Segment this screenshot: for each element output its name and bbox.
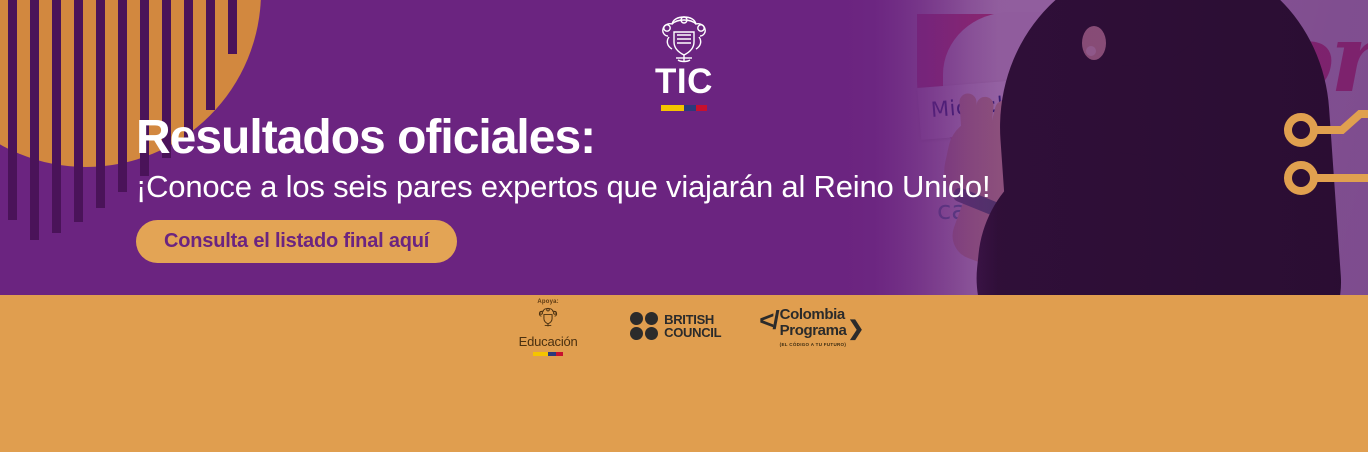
tic-logo[interactable]: TIC: [651, 13, 717, 111]
educacion-wordmark: Educación: [504, 334, 592, 349]
british-council-wordmark: BRITISH COUNCIL: [664, 313, 721, 339]
apoya-label: Apoya:: [504, 299, 592, 305]
partner-logo-educacion[interactable]: Apoya: Educación: [504, 299, 592, 356]
hero-copy: Resultados oficiales: ¡Conoce a los seis…: [136, 110, 1036, 263]
partner-logo-british-council[interactable]: BRITISH COUNCIL: [630, 312, 721, 340]
colombia-programa-line2: Programa: [780, 324, 847, 338]
tic-wordmark: TIC: [651, 65, 717, 99]
colombia-programa-tagline: (EL CÓDIGO A TU FUTURO): [780, 341, 864, 348]
british-council-dots-icon: [630, 312, 658, 340]
circuit-trace-decoration: [1270, 96, 1368, 216]
circuit-node-icon: [1288, 117, 1314, 143]
colombia-programa-wordmark: Colombia Programa ❯ (EL CÓDIGO A TU FUTU…: [780, 308, 864, 348]
code-slash-icon: </: [759, 308, 777, 332]
consulta-listado-button[interactable]: Consulta el listado final aquí: [136, 220, 457, 263]
page-subtitle: ¡Conoce a los seis pares expertos que vi…: [136, 168, 1036, 206]
chevron-right-icon: ❯: [848, 322, 864, 336]
promo-banner: ✳ Micro:bit ca nor: [0, 0, 1368, 452]
page-title: Resultados oficiales:: [136, 110, 1036, 166]
circuit-node-icon: [1288, 165, 1314, 191]
colombia-coat-of-arms-icon: [537, 306, 559, 328]
hero-section: ✳ Micro:bit ca nor: [0, 0, 1368, 295]
colombia-coat-of-arms-icon: [657, 13, 711, 63]
partner-logo-colombia-programa[interactable]: </ Colombia Programa ❯ (EL CÓDIGO A TU F…: [759, 308, 864, 348]
footer-section: Apoya: Educación: [0, 295, 1368, 452]
colombia-flag-bar-icon: [533, 352, 563, 356]
british-council-line2: COUNCIL: [664, 326, 721, 339]
partner-logos: Apoya: Educación: [0, 299, 1368, 356]
